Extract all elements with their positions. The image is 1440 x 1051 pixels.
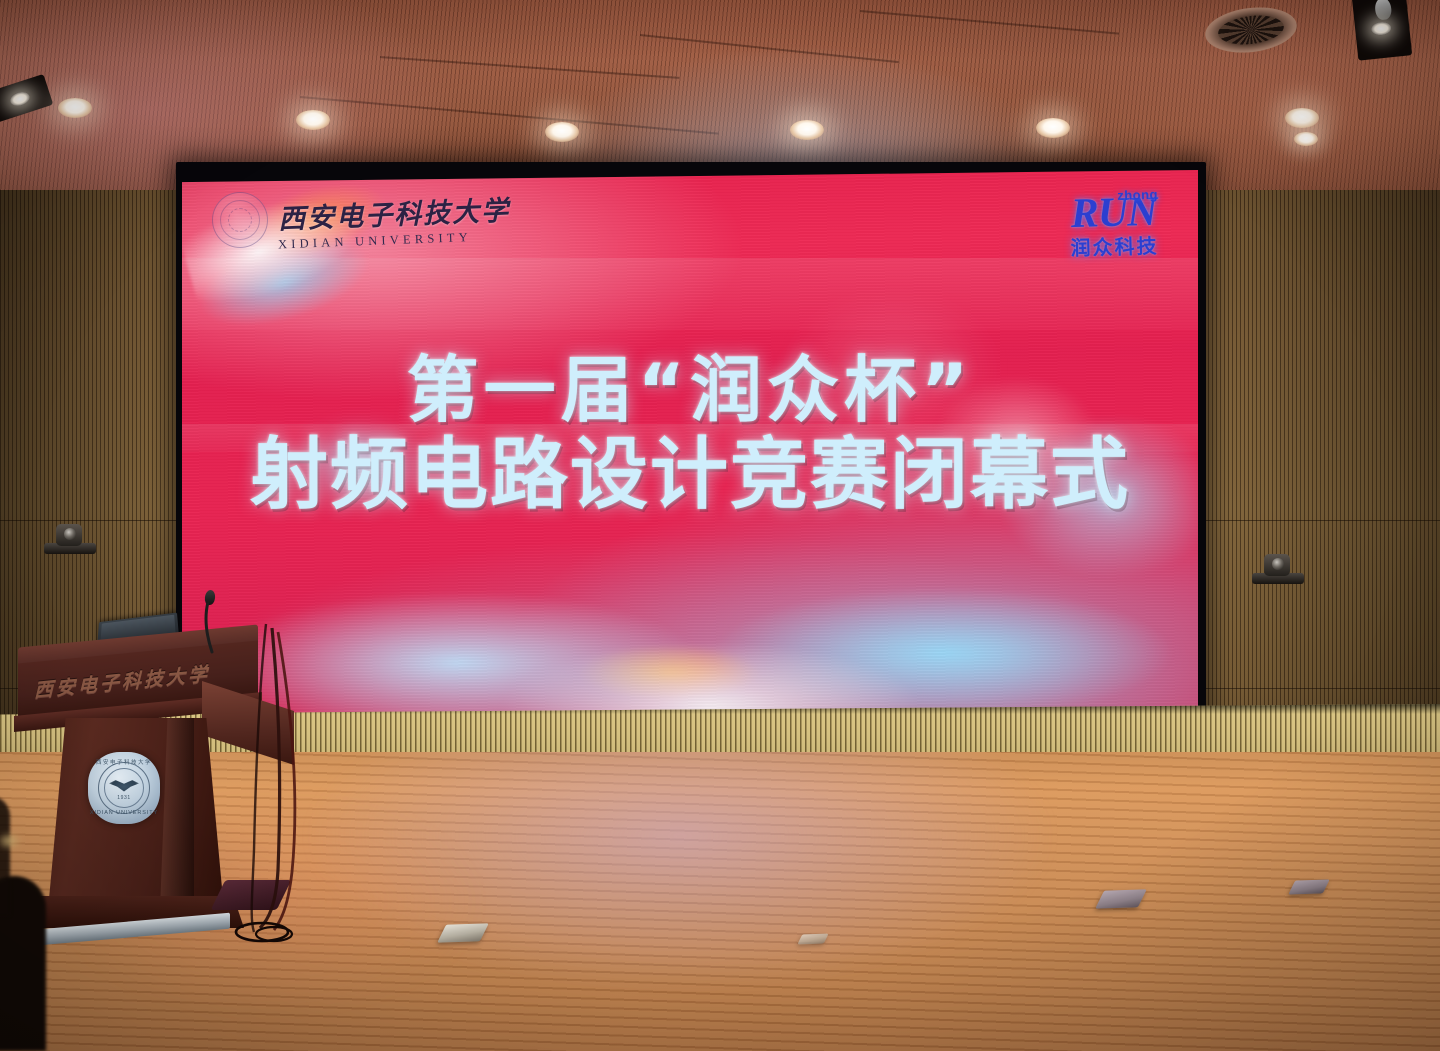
recessed-downlight-icon — [1294, 132, 1318, 146]
camera-lens — [64, 528, 76, 540]
auditorium-stage-photo: 西安电子科技大学 XIDIAN UNIVERSITY RUN zhong 润众科… — [0, 0, 1440, 1051]
university-name-cn: 西安电子科技大学 — [277, 188, 510, 236]
crest-name-cn: 西安电子科技大学 — [88, 758, 160, 766]
sponsor-wordmark-wrap: RUN zhong — [1070, 193, 1157, 234]
audience-silhouette — [0, 796, 10, 916]
recessed-downlight-icon — [296, 110, 330, 130]
crest-name-en: XIDIAN UNIVERSITY — [88, 810, 160, 816]
recessed-downlight-icon — [1285, 108, 1319, 128]
track-spotlight-icon — [1352, 0, 1412, 61]
ceremony-title: 第一届“润众杯” 射频电路设计竞赛闭幕式 — [182, 352, 1198, 517]
spotlight-beam — [1371, 21, 1392, 36]
screen-university-logo: 西安电子科技大学 XIDIAN UNIVERSITY — [212, 192, 510, 248]
ptz-camera-icon — [44, 520, 96, 554]
recessed-downlight-icon — [1036, 118, 1070, 138]
eagle-crest-icon: 西安电子科技大学 1931 XIDIAN UNIVERSITY — [88, 752, 160, 824]
sponsor-superscript: zhong — [1117, 187, 1158, 203]
recessed-downlight-icon — [790, 120, 824, 140]
university-seal-icon — [212, 192, 268, 248]
ceremony-title-line-1: 第一届“润众杯” — [182, 352, 1198, 428]
university-name-block: 西安电子科技大学 XIDIAN UNIVERSITY — [278, 193, 510, 248]
recessed-downlight-icon — [545, 122, 579, 142]
ceremony-title-line-2: 射频电路设计竞赛闭幕式 — [182, 434, 1198, 517]
spotlight-beam — [8, 90, 31, 109]
crest-founding-year: 1931 — [88, 795, 160, 801]
spotlight-body — [1374, 0, 1392, 21]
recessed-downlight-icon — [58, 98, 92, 118]
audience-highlight — [0, 832, 22, 850]
ptz-camera-icon — [1252, 550, 1304, 584]
camera-lens — [1272, 558, 1284, 570]
podium-cable-bundle — [230, 620, 370, 950]
screen-sponsor-logo: RUN zhong 润众科技 — [1069, 193, 1159, 261]
